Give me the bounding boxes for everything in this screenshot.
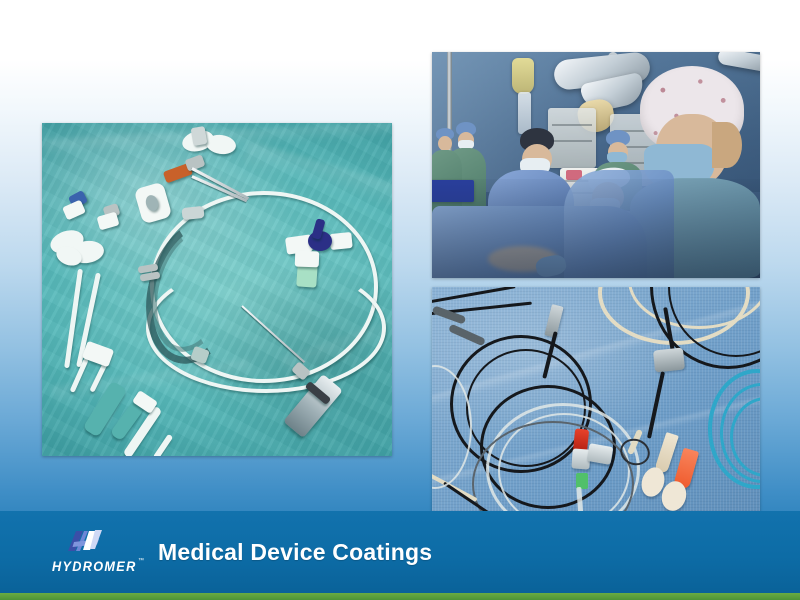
clamp-top-collar <box>181 206 204 220</box>
hydromer-h-monogram-icon <box>66 529 108 553</box>
hair <box>712 122 742 168</box>
hydromer-logo[interactable]: HYDROMER ™ <box>52 529 144 575</box>
face <box>438 136 452 151</box>
page-title: Medical Device Coatings <box>158 539 432 566</box>
or-foreground-shading <box>432 179 760 278</box>
butterfly-stem <box>191 126 208 146</box>
iv-bag <box>512 58 534 94</box>
cart-shelf-line <box>552 124 592 126</box>
footer-content: HYDROMER ™ Medical Device Coatings <box>0 511 432 593</box>
photo-guidewires <box>432 287 760 535</box>
photo-operating-room <box>432 52 760 278</box>
trademark-symbol: ™ <box>138 558 144 564</box>
photo-catheter-kit <box>42 123 392 456</box>
stopcock-collar <box>295 251 320 268</box>
accent-strip <box>0 593 800 600</box>
stopcock-arm <box>329 232 353 250</box>
stopcock-side-arm <box>587 443 614 465</box>
catheter-hub <box>653 347 685 372</box>
hydromer-wordmark: HYDROMER <box>52 559 138 574</box>
slide-canvas: HYDROMER ™ Medical Device Coatings <box>0 0 800 600</box>
